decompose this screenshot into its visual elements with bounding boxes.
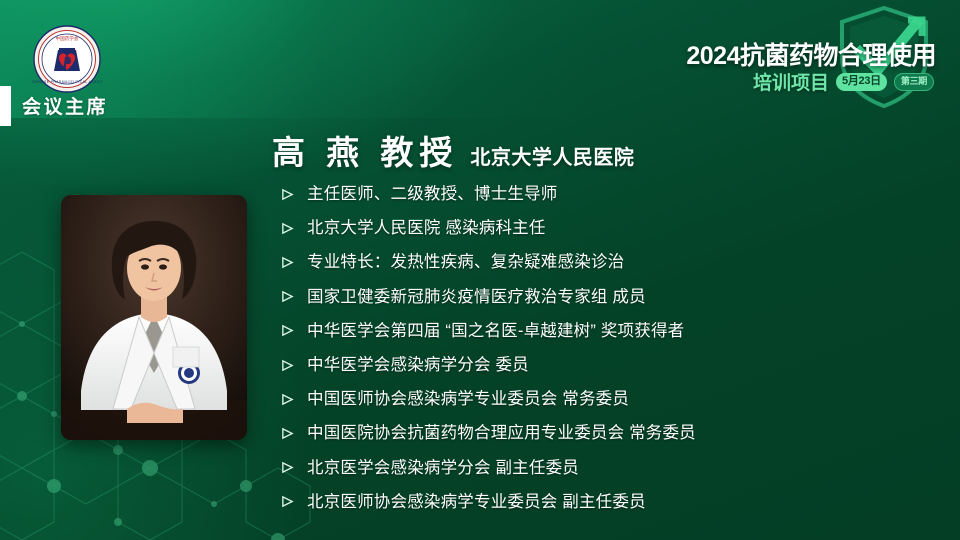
cpa-circular-emblem-logo-icon: 中国药学会 CHINESE PHARMACEUTICAL ASSOC <box>32 24 102 94</box>
association-logo: 中国药学会 CHINESE PHARMACEUTICAL ASSOC <box>32 24 102 94</box>
list-item: 专业特长：发热性疾病、复杂疑难感染诊治 <box>280 245 940 279</box>
banner-subtitle: 培训项目 <box>753 68 829 95</box>
list-item: 北京医学会感染病学分会 副主任委员 <box>280 451 940 485</box>
arrow-bullet-icon <box>280 211 294 245</box>
section-label-chairman: 会议主席 <box>22 92 108 119</box>
arrow-bullet-icon <box>280 245 294 279</box>
list-item: 主任医师、二级教授、博士生导师 <box>280 177 940 211</box>
list-item: 中国医师协会感染病学专业委员会 常务委员 <box>280 382 940 416</box>
banner-subtitle-row: 培训项目 5月23日 第三期 <box>753 68 934 95</box>
arrow-bullet-icon <box>280 348 294 382</box>
list-item: 中华医学会第四届 “国之名医-卓越建树” 奖项获得者 <box>280 314 940 348</box>
list-item-label: 中国医院协会抗菌药物合理应用专业委员会 常务委员 <box>307 416 696 450</box>
arrow-bullet-icon <box>280 177 294 211</box>
list-item-label: 北京医师协会感染病学专业委员会 副主任委员 <box>307 485 646 519</box>
list-item-label: 专业特长：发热性疾病、复杂疑难感染诊治 <box>307 245 624 279</box>
list-item-label: 北京大学人民医院 感染病科主任 <box>307 211 546 245</box>
list-item: 国家卫健委新冠肺炎疫情医疗救治专家组 成员 <box>280 280 940 314</box>
banner-title: 2024抗菌药物合理使用 <box>686 36 936 72</box>
speaker-portrait-photo <box>61 195 247 440</box>
svg-text:中国药学会: 中国药学会 <box>56 35 79 42</box>
list-item-label: 中国医师协会感染病学专业委员会 常务委员 <box>307 382 629 416</box>
credentials-list: 主任医师、二级教授、博士生导师 北京大学人民医院 感染病科主任 专业特长：发热性… <box>280 177 940 519</box>
arrow-bullet-icon <box>280 382 294 416</box>
list-item-label: 北京医学会感染病学分会 副主任委员 <box>307 451 579 485</box>
list-item: 中国医院协会抗菌药物合理应用专业委员会 常务委员 <box>280 416 940 450</box>
list-item-label: 主任医师、二级教授、博士生导师 <box>307 177 558 211</box>
arrow-bullet-icon <box>280 314 294 348</box>
arrow-bullet-icon <box>280 451 294 485</box>
list-item-label: 中华医学会第四届 “国之名医-卓越建树” 奖项获得者 <box>307 314 684 348</box>
speaker-name-line: 高 燕 教授 北京大学人民医院 <box>272 126 634 174</box>
svg-text:CHINESE PHARMACEUTICAL ASSOC: CHINESE PHARMACEUTICAL ASSOC <box>32 80 102 84</box>
speaker-name: 高 燕 教授 <box>272 126 458 174</box>
arrow-bullet-icon <box>280 280 294 314</box>
left-accent-tab <box>0 86 11 126</box>
event-banner: 2024抗菌药物合理使用 培训项目 5月23日 第三期 <box>654 0 954 112</box>
list-item-label: 国家卫健委新冠肺炎疫情医疗救治专家组 成员 <box>307 280 646 314</box>
portrait-illustration <box>61 195 247 440</box>
arrow-bullet-icon <box>280 485 294 519</box>
slide-canvas: 中国药学会 CHINESE PHARMACEUTICAL ASSOC 会议主席 … <box>0 0 960 540</box>
list-item-label: 中华医学会感染病学分会 委员 <box>307 348 529 382</box>
list-item: 中华医学会感染病学分会 委员 <box>280 348 940 382</box>
badge-issue: 第三期 <box>894 73 934 91</box>
list-item: 北京医师协会感染病学专业委员会 副主任委员 <box>280 485 940 519</box>
badge-date: 5月23日 <box>836 73 887 91</box>
list-item: 北京大学人民医院 感染病科主任 <box>280 211 940 245</box>
speaker-organization: 北京大学人民医院 <box>470 141 634 170</box>
arrow-bullet-icon <box>280 416 294 450</box>
